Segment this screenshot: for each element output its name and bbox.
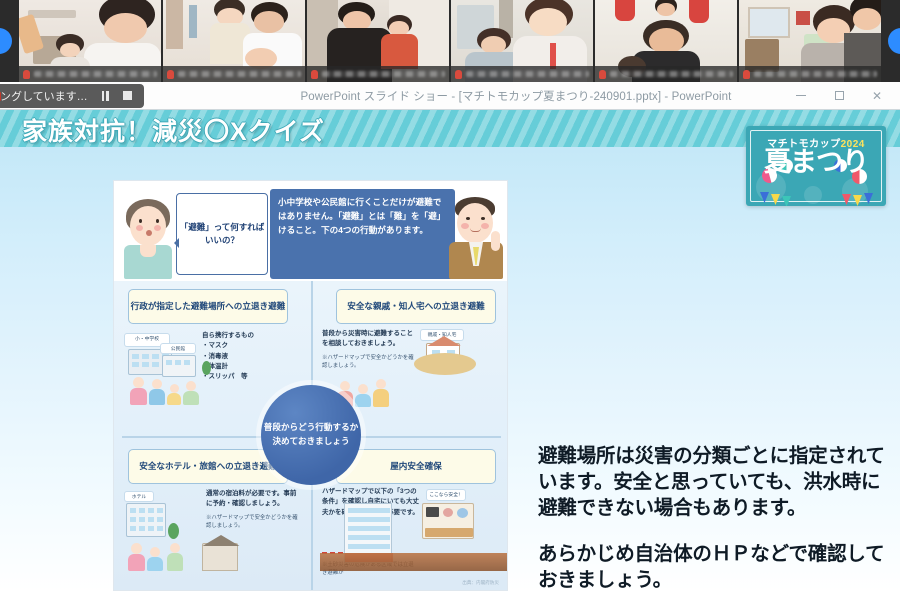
pause-icon[interactable] xyxy=(102,91,109,101)
participant-name-redacted xyxy=(754,71,877,77)
participant-name-redacted xyxy=(322,71,445,77)
person-figure xyxy=(166,543,184,571)
mic-muted-icon xyxy=(167,70,174,79)
child-figure xyxy=(167,384,181,405)
recording-label: ングしています… xyxy=(0,88,88,104)
participant-tile[interactable] xyxy=(19,0,161,82)
hotel-label-card: ホテル xyxy=(124,491,154,502)
participant-tile[interactable] xyxy=(451,0,593,82)
participant-name-redacted xyxy=(466,71,589,77)
mic-muted-icon xyxy=(23,70,30,79)
infographic-header: 「避難」って何すればいいの？ 小中学校や公民館に行くことだけが避難ではありません… xyxy=(114,181,508,281)
chevron-left-icon[interactable] xyxy=(0,28,12,54)
participant-name-bar xyxy=(451,66,593,82)
tree-icon xyxy=(168,523,179,539)
participant-tile[interactable] xyxy=(163,0,305,82)
quadrant-heading-2: 安全な親戚・知人宅への立退き避難 xyxy=(336,289,496,324)
screen-root: ングしています… PowerPoint スライド ショー ‐ [マチトモカップ夏… xyxy=(0,0,900,591)
powerpoint-slide: 家族対抗！減災〇Xクイズ マチトモカップ2024 xyxy=(0,110,900,591)
child-figure xyxy=(355,384,371,407)
maximize-icon xyxy=(835,91,844,100)
quadrant-heading-4: 屋内安全確保 xyxy=(336,449,496,484)
hotel-label: ホテル xyxy=(132,495,146,500)
participant-tile[interactable] xyxy=(595,0,737,82)
person-figure xyxy=(372,379,390,407)
participant-name-bar xyxy=(595,66,737,82)
house-icon xyxy=(202,543,238,571)
infographic-body: 行政が指定した避難場所への立退き避難 安全な親戚・知人宅への立退き避難 安全なホ… xyxy=(114,281,508,591)
video-conference-strip xyxy=(0,0,900,82)
safe-here-label: ここなら安全！ xyxy=(429,493,463,498)
person-figure xyxy=(128,377,148,405)
quadrant-detail-3: 通常の宿泊料が必要です。事前に予約・確認しましょう。 ※ハザードマップで安全かど… xyxy=(206,489,302,530)
close-icon: ✕ xyxy=(872,89,882,103)
slide-paragraph-1: 避難場所は災害の分類ごとに指定されています。安全と思っていても、洪水時に避難でき… xyxy=(538,444,888,522)
quadrant-heading-1: 行政が指定した避難場所への立退き避難 xyxy=(128,289,288,324)
window-title: PowerPoint スライド ショー ‐ [マチトモカップ夏まつり-24090… xyxy=(250,88,782,104)
mic-muted-icon xyxy=(599,70,606,79)
participant-name-bar xyxy=(163,66,305,82)
participant-tile[interactable] xyxy=(739,0,881,82)
mic-muted-icon xyxy=(311,70,318,79)
participant-name-redacted xyxy=(178,71,301,77)
tree-icon xyxy=(202,361,211,375)
person-figure xyxy=(183,381,199,405)
window-controls: ✕ xyxy=(782,83,896,109)
answer-speech-bubble: 小中学校や公民館に行くことだけが避難ではありません。「避難」とは「難」を「避」け… xyxy=(270,189,455,279)
question-speech-bubble: 「避難」って何すればいいの？ xyxy=(176,193,268,275)
indoor-room-icon xyxy=(422,503,474,539)
quadrant-detail-3-text: 通常の宿泊料が必要です。事前に予約・確認しましょう。 xyxy=(206,489,302,510)
quadrant-detail-1: 自ら携行するもの ・マスク ・消毒液 ・体温計 ・スリッパ 等 xyxy=(202,331,302,382)
hands-icon xyxy=(414,353,476,375)
source-credit: 出典：内閣府防災 xyxy=(462,580,499,586)
community-hall-icon xyxy=(162,355,196,377)
hotel-building-icon xyxy=(126,503,166,537)
quadrant-note-2: ※ハザードマップで安全かどうかを確認しましょう。 xyxy=(322,354,417,370)
quadrant-note-3: ※ハザードマップで安全かどうかを確認しましょう。 xyxy=(206,514,302,530)
center-message-circle: 普段からどう行動するか決めておきましょう xyxy=(261,385,361,485)
participant-name-bar xyxy=(19,66,161,82)
participant-tile[interactable] xyxy=(307,0,449,82)
quadrant-detail-2: 普段から災害時に避難することを相談しておきましょう。 ※ハザードマップで安全かど… xyxy=(322,329,417,370)
child-figure xyxy=(147,547,163,571)
participant-tiles xyxy=(18,0,882,82)
slide-title: 家族対抗！減災〇Xクイズ xyxy=(22,112,325,148)
minimize-icon xyxy=(796,95,806,96)
ground-layer xyxy=(320,553,508,571)
infographic: 「避難」って何すればいいの？ 小中学校や公民館に行くことだけが避難ではありません… xyxy=(113,180,508,591)
school-label: 小・中学校 xyxy=(135,337,159,342)
person-figure xyxy=(126,543,146,571)
slide-paragraph-2: あらかじめ自治体のＨＰなどで確認しておきましょう。 xyxy=(538,542,888,591)
maximize-button[interactable] xyxy=(820,83,858,109)
participant-name-bar xyxy=(307,66,449,82)
event-logo-badge: マチトモカップ2024 夏ま xyxy=(746,126,886,206)
stop-icon[interactable] xyxy=(123,91,132,100)
participant-name-bar xyxy=(739,66,881,82)
instructor-character-illustration xyxy=(445,195,507,279)
participant-name-redacted xyxy=(610,71,733,77)
gallery-next-button[interactable] xyxy=(882,0,900,82)
quadrant-detail-2-text: 普段から災害時に避難することを相談しておきましょう。 xyxy=(322,329,417,350)
minimize-button[interactable] xyxy=(782,83,820,109)
person-figure xyxy=(148,379,166,405)
badge-festival-text: 夏まつり xyxy=(746,150,886,174)
gallery-prev-button[interactable] xyxy=(0,0,18,82)
mic-muted-icon xyxy=(743,70,750,79)
slide-body-text: 避難場所は災害の分類ごとに指定されています。安全と思っていても、洪水時に避難でき… xyxy=(538,444,888,591)
recording-indicator: ングしています… xyxy=(0,84,144,108)
safe-here-label-card: ここなら安全！ xyxy=(426,489,466,501)
chevron-right-icon[interactable] xyxy=(888,28,900,54)
close-button[interactable]: ✕ xyxy=(858,83,896,109)
powerpoint-title-bar: ングしています… PowerPoint スライド ショー ‐ [マチトモカップ夏… xyxy=(0,82,900,110)
record-dot-icon xyxy=(0,92,1,101)
community-hall-label-card: 公民館 xyxy=(160,343,196,354)
mic-muted-icon xyxy=(455,70,462,79)
participant-name-redacted xyxy=(34,71,157,77)
community-hall-label: 公民館 xyxy=(171,347,185,352)
